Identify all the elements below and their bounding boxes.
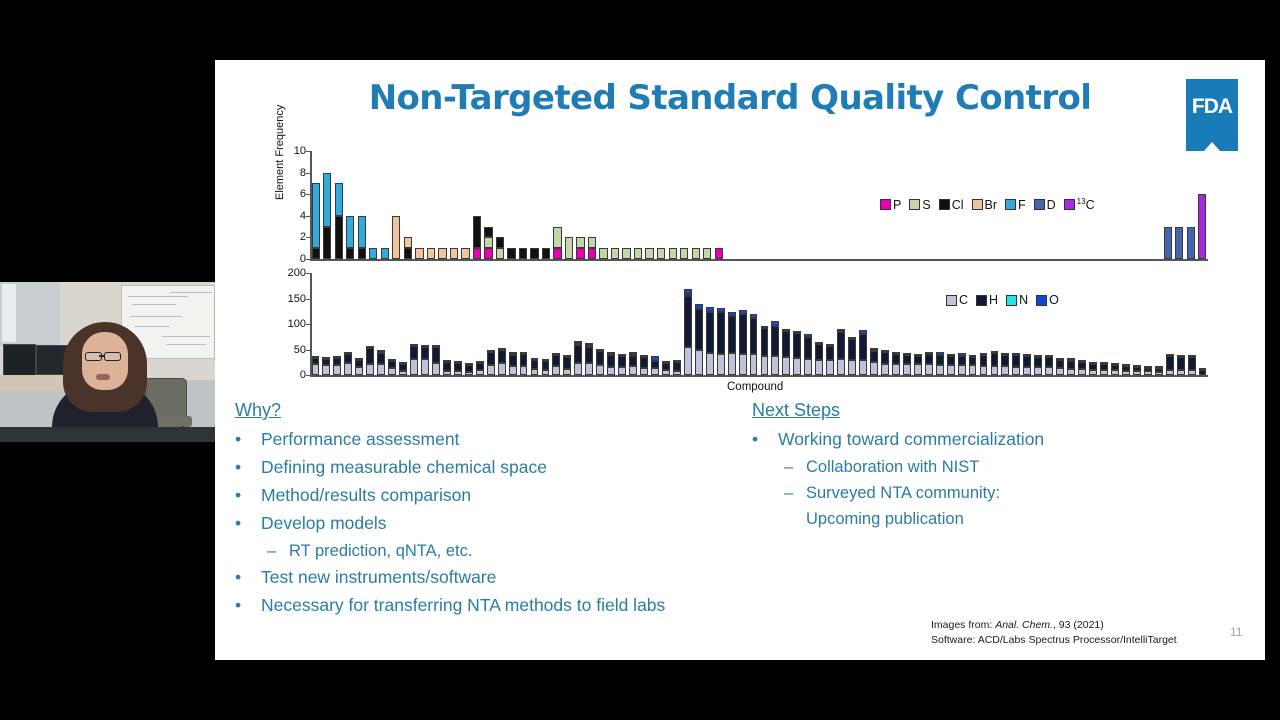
bar-segment-H	[980, 355, 988, 366]
bar-segment-O	[947, 354, 955, 356]
chart-bar	[427, 248, 435, 259]
bar-segment-O	[826, 344, 834, 346]
bar-segment-S	[657, 248, 665, 259]
bar-segment-F	[369, 248, 377, 259]
chart-bar	[1056, 359, 1064, 375]
chart-bar	[793, 332, 801, 375]
chart-bar	[695, 304, 703, 375]
list-item: •Performance assessment	[235, 428, 459, 450]
bar-segment-S	[576, 237, 584, 248]
chart-bar	[991, 352, 999, 375]
bar-segment-C	[1100, 370, 1108, 375]
bar-segment-C	[969, 365, 977, 375]
legend-label-C: C	[959, 293, 968, 307]
list-item-label: RT prediction, qNTA, etc.	[289, 540, 472, 562]
bar-segment-C	[410, 359, 418, 375]
bar-segment-S	[634, 248, 642, 259]
bar-segment-Cl	[473, 216, 481, 248]
chart-bar	[717, 308, 725, 375]
bar-segment-C	[739, 354, 747, 375]
chart-bar	[680, 248, 688, 259]
bar-segment-O	[1166, 354, 1174, 356]
bar-segment-C	[1144, 371, 1152, 375]
bar-segment-O	[848, 337, 856, 339]
bar-segment-C	[552, 366, 560, 375]
bar-segment-C	[1012, 367, 1020, 375]
bar-segment-H	[673, 362, 681, 371]
bar-segment-H	[432, 347, 440, 362]
bar-segment-O	[815, 342, 823, 344]
bar-segment-Cl	[312, 248, 320, 259]
chart-bar	[881, 350, 889, 375]
list-item-marker: –	[784, 456, 806, 478]
chart-bar	[859, 330, 867, 375]
chart-bar	[673, 361, 681, 375]
bar-segment-C	[684, 347, 692, 375]
chart-bar	[848, 338, 856, 375]
bar-segment-H	[706, 312, 714, 353]
bar-segment-P	[715, 248, 723, 259]
y-tick-label: 100	[278, 319, 306, 329]
chart-bar	[607, 353, 615, 375]
bar-segment-C	[695, 350, 703, 375]
bar-segment-H	[1177, 357, 1185, 371]
chart-bar	[519, 248, 527, 259]
bar-segment-F	[323, 173, 331, 227]
bar-segment-C	[542, 370, 550, 375]
bar-segment-H	[487, 352, 495, 366]
bar-segment-H	[881, 352, 889, 364]
bar-segment-H	[344, 354, 352, 363]
chart-bar	[980, 354, 988, 375]
chart-bar	[599, 248, 607, 259]
bar-segment-O	[1023, 354, 1031, 356]
chart-bar	[1175, 227, 1183, 259]
bar-segment-H	[1012, 355, 1020, 367]
bar-segment-H	[498, 350, 506, 363]
bar-segment-Br	[438, 248, 446, 259]
list-item-marker: •	[235, 484, 261, 506]
chart-bar	[461, 248, 469, 259]
chart-legend: CHNO	[946, 293, 1065, 307]
bar-segment-N	[574, 343, 582, 345]
y-tick-label: 0	[278, 370, 306, 380]
bar-segment-H	[684, 296, 692, 347]
webcam-video-tile[interactable]	[0, 282, 215, 442]
bar-segment-P	[588, 248, 596, 259]
bar-segment-C	[958, 365, 966, 375]
bar-segment-H	[739, 314, 747, 354]
y-tick-mark	[306, 350, 310, 351]
bar-segment-H	[815, 344, 823, 360]
bar-segment-H	[936, 355, 944, 365]
bar-segment-O	[1199, 368, 1207, 370]
bar-segment-O	[432, 345, 440, 347]
list-item-marker: •	[235, 566, 261, 588]
bar-segment-H	[717, 312, 725, 354]
legend-swatch-Br	[972, 199, 983, 210]
bar-segment-C	[312, 364, 320, 375]
chart-bar	[432, 346, 440, 375]
citation-line-1: Images from: Anal. Chem., 93 (2021)	[931, 618, 1177, 633]
y-tick-label: 200	[278, 268, 306, 278]
fda-logo: FDA	[1186, 79, 1238, 151]
bar-segment-O	[673, 360, 681, 362]
chart-bar	[1012, 354, 1020, 375]
bar-segment-H	[750, 318, 758, 354]
chart-bar	[903, 354, 911, 375]
bar-segment-O	[366, 346, 374, 348]
bar-segment-C	[837, 359, 845, 375]
bar-segment-O	[377, 350, 385, 352]
chart-bar	[333, 357, 341, 375]
bar-segment-H	[355, 360, 363, 367]
bar-segment-O	[782, 329, 790, 331]
bar-segment-O	[761, 326, 769, 328]
bar-segment-H	[969, 357, 977, 366]
bar-segment-Cl	[358, 248, 366, 259]
chart-bar	[552, 354, 560, 375]
y-tick-mark	[306, 194, 310, 195]
legend-label-F: F	[1018, 198, 1026, 212]
bar-segment-S	[669, 248, 677, 259]
bar-segment-H	[761, 328, 769, 356]
chart-bar	[1155, 367, 1163, 375]
bar-segment-H	[531, 360, 539, 369]
list-item-label: Necessary for transferring NTA methods t…	[261, 594, 665, 616]
bar-segment-H	[1122, 366, 1130, 371]
bar-segment-O	[706, 307, 714, 313]
list-item-label: Performance assessment	[261, 428, 459, 450]
list-item-label: Develop models	[261, 512, 386, 534]
bar-segment-Br	[392, 216, 400, 259]
chart-bar	[344, 353, 352, 375]
bar-segment-C	[826, 360, 834, 375]
bar-segment-O	[552, 353, 560, 355]
chart-bar	[322, 358, 330, 375]
bar-segment-H	[312, 358, 320, 364]
legend-label-13C: 13C	[1077, 197, 1095, 212]
bar-segment-H	[1133, 367, 1141, 371]
bar-segment-C	[509, 366, 517, 375]
bar-segment-O	[1144, 366, 1152, 368]
bar-segment-C	[498, 363, 506, 375]
chart-bar	[715, 248, 723, 259]
chart-bar	[473, 216, 481, 259]
list-item-label: Test new instruments/software	[261, 566, 496, 588]
bar-segment-O	[1177, 355, 1185, 357]
next-steps-heading: Next Steps	[752, 400, 840, 421]
bar-segment-O	[531, 358, 539, 360]
bar-segment-H	[542, 361, 550, 370]
chart-bar	[611, 248, 619, 259]
list-item-marker: •	[235, 456, 261, 478]
legend-label-S: S	[922, 198, 930, 212]
bar-segment-O	[509, 352, 517, 354]
chart-bar	[1164, 227, 1172, 259]
bar-segment-C	[673, 371, 681, 375]
bar-segment-O	[1045, 355, 1053, 357]
bar-segment-H	[793, 333, 801, 358]
chart-bar	[507, 248, 515, 259]
bar-segment-F	[381, 248, 389, 259]
bar-segment-H	[322, 359, 330, 365]
bar-segment-C	[771, 356, 779, 375]
bar-segment-O	[1133, 365, 1141, 367]
bar-segment-H	[1034, 357, 1042, 368]
bar-segment-H	[421, 347, 429, 358]
list-item: •Working toward commercialization	[752, 428, 1044, 450]
y-tick-label: 2	[278, 232, 306, 242]
chart-bar	[1177, 355, 1185, 375]
bar-segment-O	[870, 348, 878, 350]
bar-segment-O	[1067, 358, 1075, 360]
bar-segment-H	[1111, 365, 1119, 370]
chart-bar	[366, 346, 374, 375]
list-item: •Method/results comparison	[235, 484, 471, 506]
chart-bar	[388, 360, 396, 375]
chart-bar	[410, 345, 418, 375]
chart-bar	[1133, 366, 1141, 375]
bar-segment-H	[1045, 357, 1053, 367]
legend-label-P: P	[893, 198, 901, 212]
bar-segment-C	[1056, 368, 1064, 375]
legend-swatch-13C	[1064, 199, 1075, 210]
chart-bar	[1001, 354, 1009, 375]
bar-segment-C	[531, 369, 539, 375]
bar-segment-O	[837, 329, 845, 331]
bar-segment-C	[640, 368, 648, 375]
bar-segment-Br	[427, 248, 435, 259]
bar-segment-O	[322, 357, 330, 359]
chart-bar	[958, 353, 966, 375]
bar-segment-S	[692, 248, 700, 259]
bar-segment-C	[662, 370, 670, 375]
bar-segment-Cl	[346, 248, 354, 259]
chart-bar	[454, 362, 462, 375]
bar-segment-O	[454, 361, 462, 363]
chart-bar	[657, 248, 665, 259]
bar-segment-P	[553, 248, 561, 259]
list-item-label: Surveyed NTA community:	[806, 482, 1000, 504]
bar-segment-H	[1166, 356, 1174, 370]
bar-segment-O	[914, 354, 922, 356]
bar-segment-C	[1155, 372, 1163, 375]
bar-segment-C	[1133, 371, 1141, 375]
bar-segment-C	[782, 357, 790, 375]
bar-segment-Cl	[335, 216, 343, 259]
bar-segment-H	[520, 354, 528, 366]
bar-segment-C	[1122, 371, 1130, 375]
bar-segment-H	[410, 346, 418, 358]
chart-bar	[914, 355, 922, 375]
chart-bar	[739, 310, 747, 375]
bar-segment-O	[542, 359, 550, 361]
bar-segment-H	[629, 356, 637, 367]
bar-segment-H	[914, 356, 922, 364]
bar-segment-F	[312, 183, 320, 248]
bar-segment-H	[552, 355, 560, 366]
bar-segment-Br	[450, 248, 458, 259]
chart-bar	[369, 248, 377, 259]
bar-segment-C	[1111, 370, 1119, 375]
bar-segment-H	[618, 356, 626, 367]
list-item: Upcoming publication	[784, 508, 964, 530]
bar-segment-H	[388, 361, 396, 368]
list-item: –Collaboration with NIST	[784, 456, 979, 478]
legend-label-Br: Br	[985, 198, 998, 212]
chart-bar	[542, 360, 550, 375]
chart-bar	[634, 248, 642, 259]
y-tick-label: 10	[278, 146, 306, 156]
bar-segment-C	[881, 364, 889, 375]
citation-line-2: Software: ACD/Labs Spectrus Processor/In…	[931, 633, 1177, 648]
chart-bar	[438, 248, 446, 259]
bar-segment-O	[487, 350, 495, 352]
chart-bar	[1198, 194, 1206, 259]
chart-bar	[1034, 356, 1042, 375]
bar-segment-O	[980, 353, 988, 355]
bar-segment-O	[618, 354, 626, 356]
legend-label-O: O	[1049, 293, 1059, 307]
bar-segment-13C	[1198, 194, 1206, 259]
bar-segment-O	[344, 352, 352, 354]
legend-swatch-C	[946, 295, 957, 306]
chart-bar	[1045, 356, 1053, 375]
bar-segment-O	[355, 358, 363, 360]
chart-bar	[509, 353, 517, 375]
screen: Non-Targeted Standard Quality Control FD…	[0, 0, 1280, 720]
bar-segment-S	[588, 237, 596, 248]
bar-segment-H	[1100, 364, 1108, 370]
bar-segment-O	[585, 343, 593, 345]
bar-segment-C	[936, 365, 944, 375]
bar-segment-H	[804, 337, 812, 359]
heteroatom-frequency-chart: 0246810PSClBrFD13C	[270, 145, 1210, 265]
bar-segment-C	[903, 364, 911, 375]
bar-segment-O	[574, 341, 582, 343]
chart-bar	[415, 248, 423, 259]
bar-segment-C	[761, 356, 769, 375]
bar-segment-C	[815, 360, 823, 375]
bar-segment-H	[1188, 357, 1196, 370]
chart-bar	[622, 248, 630, 259]
bar-segment-C	[487, 365, 495, 375]
chart-bar	[323, 173, 331, 259]
legend-swatch-N	[1006, 295, 1017, 306]
bar-segment-H	[651, 361, 659, 368]
bar-segment-H	[1067, 361, 1075, 369]
chart-bar	[531, 359, 539, 375]
foreground-desk	[0, 427, 215, 442]
element-frequency-figure: Element Frequency 0246810PSClBrFD13C 050…	[270, 145, 1210, 395]
y-tick-label: 8	[278, 168, 306, 178]
window	[2, 284, 16, 342]
bar-segment-H	[782, 331, 790, 356]
bar-segment-C	[1188, 370, 1196, 375]
chart-bar	[443, 361, 451, 375]
chart-bar	[1100, 363, 1108, 375]
chart-bar	[892, 353, 900, 375]
bar-segment-C	[421, 359, 429, 375]
bar-segment-C	[651, 368, 659, 375]
y-tick-mark	[306, 216, 310, 217]
bar-segment-H	[1001, 355, 1009, 366]
bar-segment-Cl	[484, 227, 492, 238]
bar-segment-O	[717, 308, 725, 312]
bar-segment-H	[771, 326, 779, 357]
legend-swatch-H	[976, 295, 987, 306]
bar-segment-C	[947, 365, 955, 375]
bar-segment-O	[1034, 355, 1042, 357]
bar-segment-C	[870, 362, 878, 375]
bar-segment-H	[399, 364, 407, 371]
bar-segment-O	[1111, 363, 1119, 365]
bar-segment-C	[366, 364, 374, 375]
bar-segment-C	[1078, 369, 1086, 375]
chno-frequency-chart: 050100150200CHNOCompound	[270, 267, 1210, 395]
legend-swatch-P	[880, 199, 891, 210]
chart-bar	[662, 362, 670, 375]
bar-segment-H	[925, 354, 933, 364]
chart-bar	[355, 359, 363, 375]
bar-segment-O	[892, 352, 900, 354]
y-tick-label: 150	[278, 294, 306, 304]
bar-segment-C	[1034, 367, 1042, 375]
bar-segment-C	[585, 363, 593, 375]
bar-segment-C	[520, 366, 528, 375]
fda-logo-text: FDA	[1186, 95, 1238, 119]
chart-bar	[381, 248, 389, 259]
chart-bar	[1166, 355, 1174, 375]
bar-segment-H	[947, 356, 955, 365]
eyeglasses-bridge	[99, 355, 104, 357]
bar-segment-O	[1001, 353, 1009, 355]
list-item-label: Working toward commercialization	[778, 428, 1044, 450]
bar-segment-H	[695, 309, 703, 350]
presenter-mouth	[96, 374, 110, 380]
bar-segment-H	[662, 363, 670, 370]
bar-segment-P	[473, 248, 481, 259]
bar-segment-O	[936, 352, 944, 355]
chart-bar	[969, 356, 977, 375]
bar-segment-O	[1078, 360, 1086, 362]
bar-segment-Cl	[519, 248, 527, 259]
presenter-face	[82, 332, 128, 390]
bar-segment-O	[498, 348, 506, 350]
chart-bar	[358, 216, 366, 259]
legend-swatch-O	[1036, 295, 1047, 306]
bar-segment-H	[333, 358, 341, 365]
bar-segment-C	[804, 359, 812, 375]
list-item-marker: –	[784, 482, 806, 504]
bar-segment-C	[1023, 367, 1031, 375]
bar-segment-P	[484, 248, 492, 259]
bar-segment-O	[771, 321, 779, 325]
legend-swatch-Cl	[939, 199, 950, 210]
bar-segment-O	[1012, 353, 1020, 355]
chart-bar	[1122, 365, 1130, 375]
bar-segment-O	[793, 331, 801, 333]
bar-segment-Cl	[404, 248, 412, 259]
chart-bar	[1188, 355, 1196, 375]
eyeglasses-left	[85, 352, 102, 361]
bar-segment-C	[925, 364, 933, 375]
bar-segment-Br	[404, 237, 412, 248]
chart-bar	[782, 329, 790, 375]
bar-segment-C	[377, 364, 385, 375]
legend-swatch-S	[909, 199, 920, 210]
